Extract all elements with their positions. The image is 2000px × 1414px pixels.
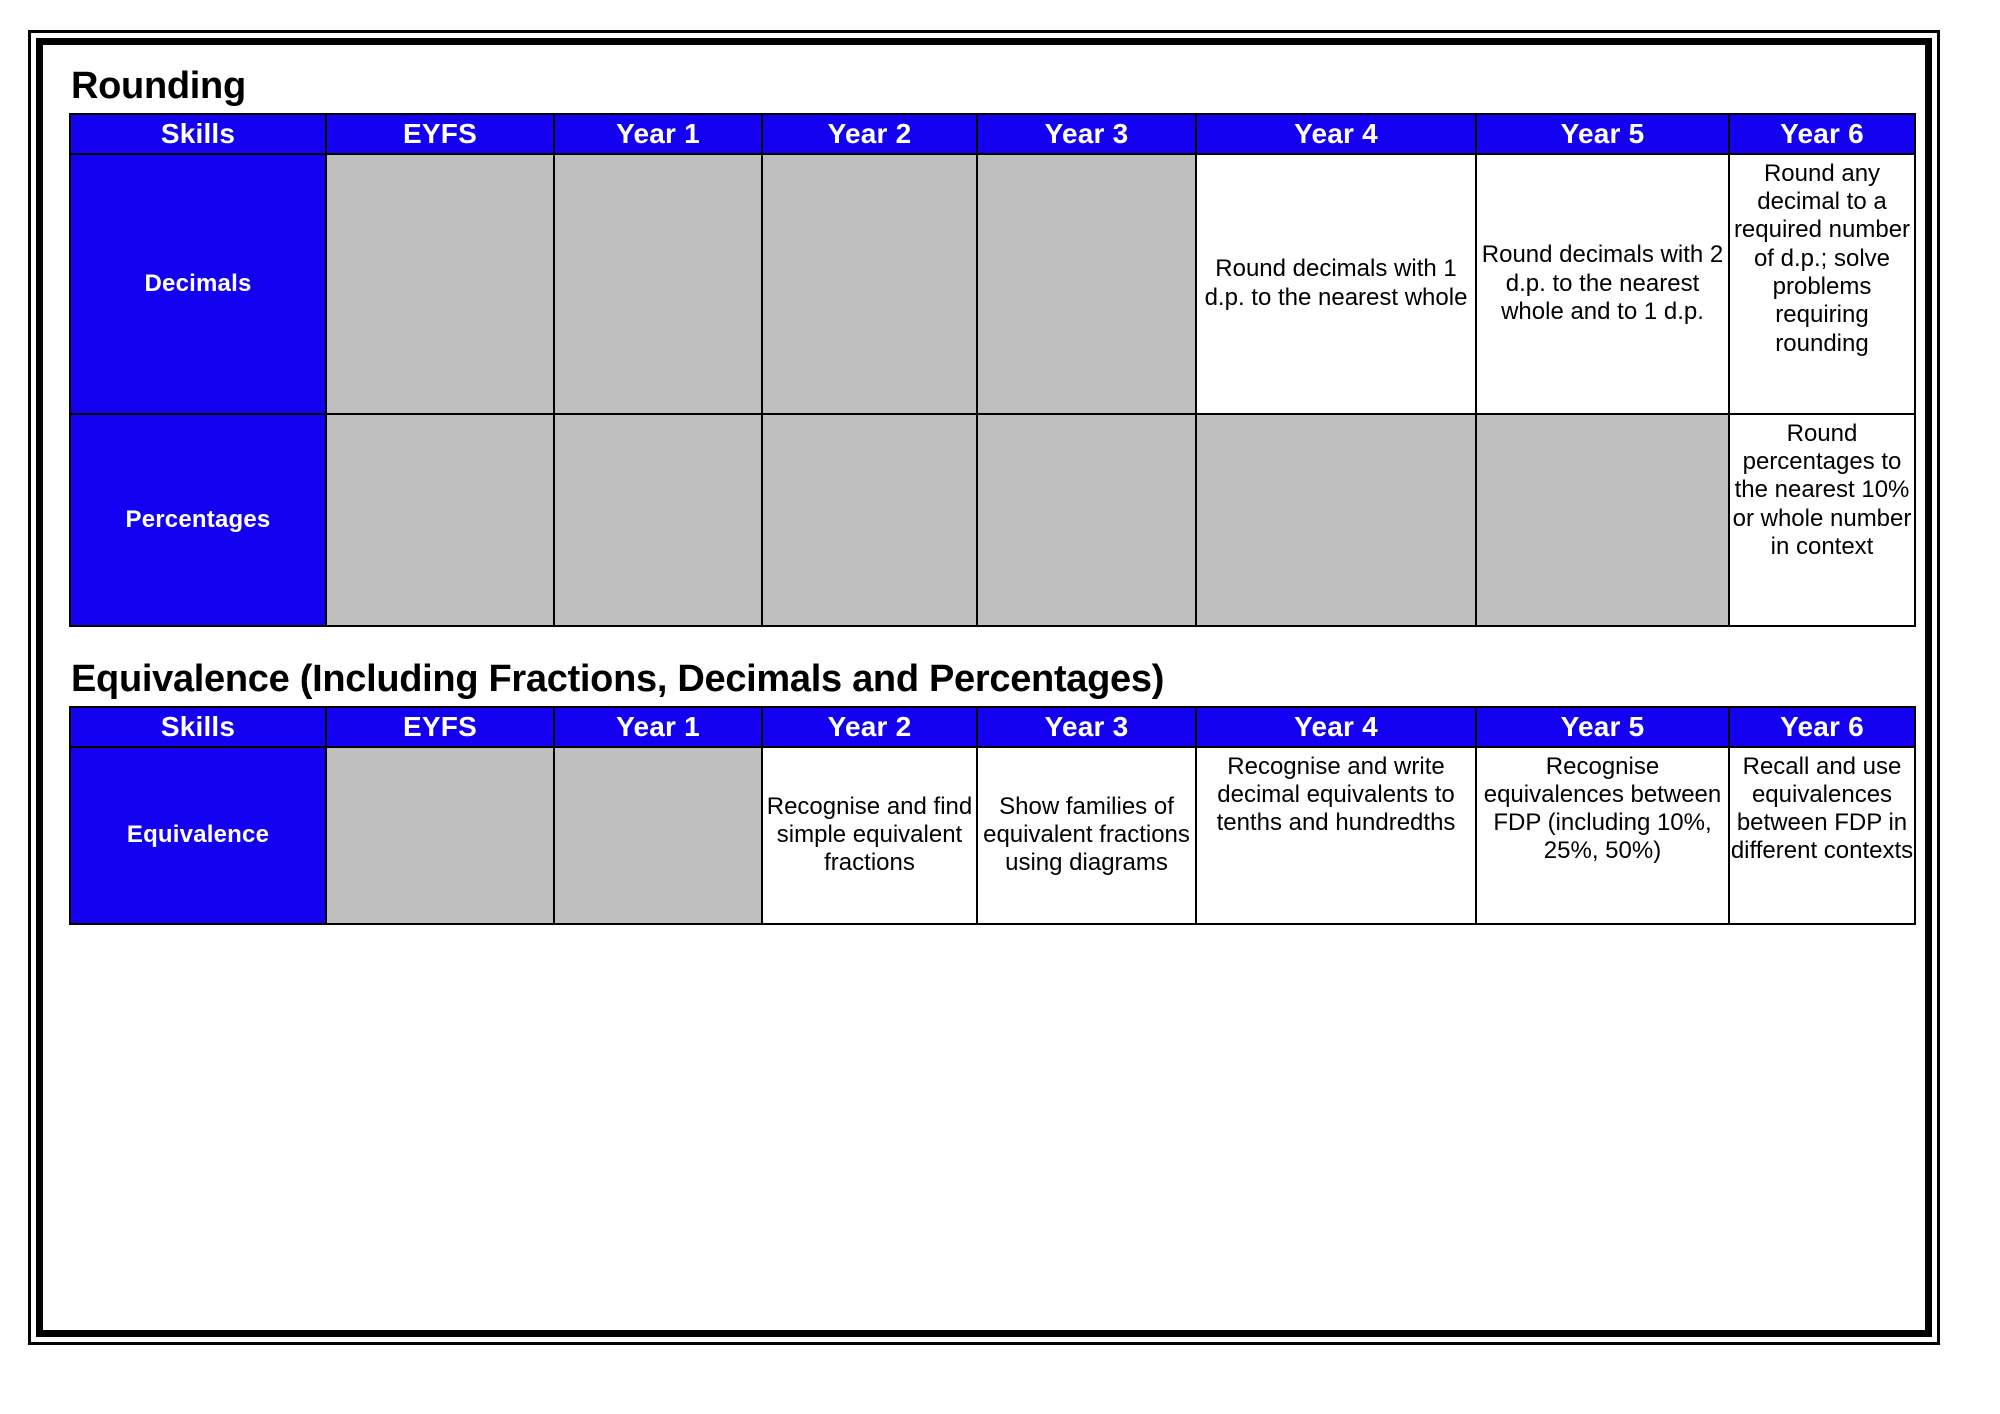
cell-percentages-year-1 bbox=[554, 414, 762, 626]
cell-equivalence-eyfs bbox=[326, 747, 554, 924]
column-header-skills: Skills bbox=[70, 114, 326, 154]
column-header-year-5: Year 5 bbox=[1476, 707, 1729, 747]
row-label-equivalence: Equivalence bbox=[70, 747, 326, 924]
column-header-year-6: Year 6 bbox=[1729, 707, 1915, 747]
cell-decimals-year-3 bbox=[977, 154, 1196, 414]
column-header-year-1: Year 1 bbox=[554, 114, 762, 154]
table-header-row: Skills EYFS Year 1 Year 2 Year 3 Year 4 … bbox=[70, 707, 1915, 747]
cell-percentages-year-4 bbox=[1196, 414, 1476, 626]
column-header-year-2: Year 2 bbox=[762, 707, 977, 747]
column-header-year-1: Year 1 bbox=[554, 707, 762, 747]
section-title-rounding: Rounding bbox=[71, 67, 1899, 106]
table-row-equivalence: Equivalence Recognise and find simple eq… bbox=[70, 747, 1915, 924]
cell-decimals-year-6: Round any decimal to a required number o… bbox=[1729, 154, 1915, 414]
section-rounding: Rounding Skills EYFS Year 1 Year 2 Year … bbox=[69, 67, 1899, 627]
cell-decimals-year-4: Round decimals with 1 d.p. to the neares… bbox=[1196, 154, 1476, 414]
table-header-row: Skills EYFS Year 1 Year 2 Year 3 Year 4 … bbox=[70, 114, 1915, 154]
column-header-year-5: Year 5 bbox=[1476, 114, 1729, 154]
column-header-year-3: Year 3 bbox=[977, 114, 1196, 154]
cell-percentages-eyfs bbox=[326, 414, 554, 626]
column-header-year-2: Year 2 bbox=[762, 114, 977, 154]
page-outer-border: Rounding Skills EYFS Year 1 Year 2 Year … bbox=[28, 30, 1940, 1345]
cell-percentages-year-6: Round percentages to the nearest 10% or … bbox=[1729, 414, 1915, 626]
cell-percentages-year-5 bbox=[1476, 414, 1729, 626]
equivalence-table: Skills EYFS Year 1 Year 2 Year 3 Year 4 … bbox=[69, 706, 1916, 925]
row-label-decimals: Decimals bbox=[70, 154, 326, 414]
cell-equivalence-year-6: Recall and use equivalences between FDP … bbox=[1729, 747, 1915, 924]
cell-equivalence-year-2: Recognise and find simple equivalent fra… bbox=[762, 747, 977, 924]
page-content: Rounding Skills EYFS Year 1 Year 2 Year … bbox=[43, 45, 1925, 1330]
cell-equivalence-year-4: Recognise and write decimal equivalents … bbox=[1196, 747, 1476, 924]
cell-equivalence-year-3: Show families of equivalent fractions us… bbox=[977, 747, 1196, 924]
table-row-percentages: Percentages Round percentages to the nea… bbox=[70, 414, 1915, 626]
column-header-eyfs: EYFS bbox=[326, 707, 554, 747]
column-header-year-4: Year 4 bbox=[1196, 707, 1476, 747]
cell-percentages-year-2 bbox=[762, 414, 977, 626]
table-row-decimals: Decimals Round decimals with 1 d.p. to t… bbox=[70, 154, 1915, 414]
cell-decimals-year-1 bbox=[554, 154, 762, 414]
column-header-year-6: Year 6 bbox=[1729, 114, 1915, 154]
column-header-year-3: Year 3 bbox=[977, 707, 1196, 747]
cell-equivalence-year-5: Recognise equivalences between FDP (incl… bbox=[1476, 747, 1729, 924]
cell-decimals-year-5: Round decimals with 2 d.p. to the neares… bbox=[1476, 154, 1729, 414]
column-header-year-4: Year 4 bbox=[1196, 114, 1476, 154]
cell-decimals-year-2 bbox=[762, 154, 977, 414]
column-header-skills: Skills bbox=[70, 707, 326, 747]
cell-percentages-year-3 bbox=[977, 414, 1196, 626]
cell-equivalence-year-1 bbox=[554, 747, 762, 924]
section-title-equivalence: Equivalence (Including Fractions, Decima… bbox=[71, 660, 1899, 699]
cell-decimals-eyfs bbox=[326, 154, 554, 414]
page-inner-border: Rounding Skills EYFS Year 1 Year 2 Year … bbox=[36, 38, 1932, 1337]
column-header-eyfs: EYFS bbox=[326, 114, 554, 154]
row-label-percentages: Percentages bbox=[70, 414, 326, 626]
rounding-table: Skills EYFS Year 1 Year 2 Year 3 Year 4 … bbox=[69, 113, 1916, 627]
section-equivalence: Equivalence (Including Fractions, Decima… bbox=[69, 660, 1899, 925]
